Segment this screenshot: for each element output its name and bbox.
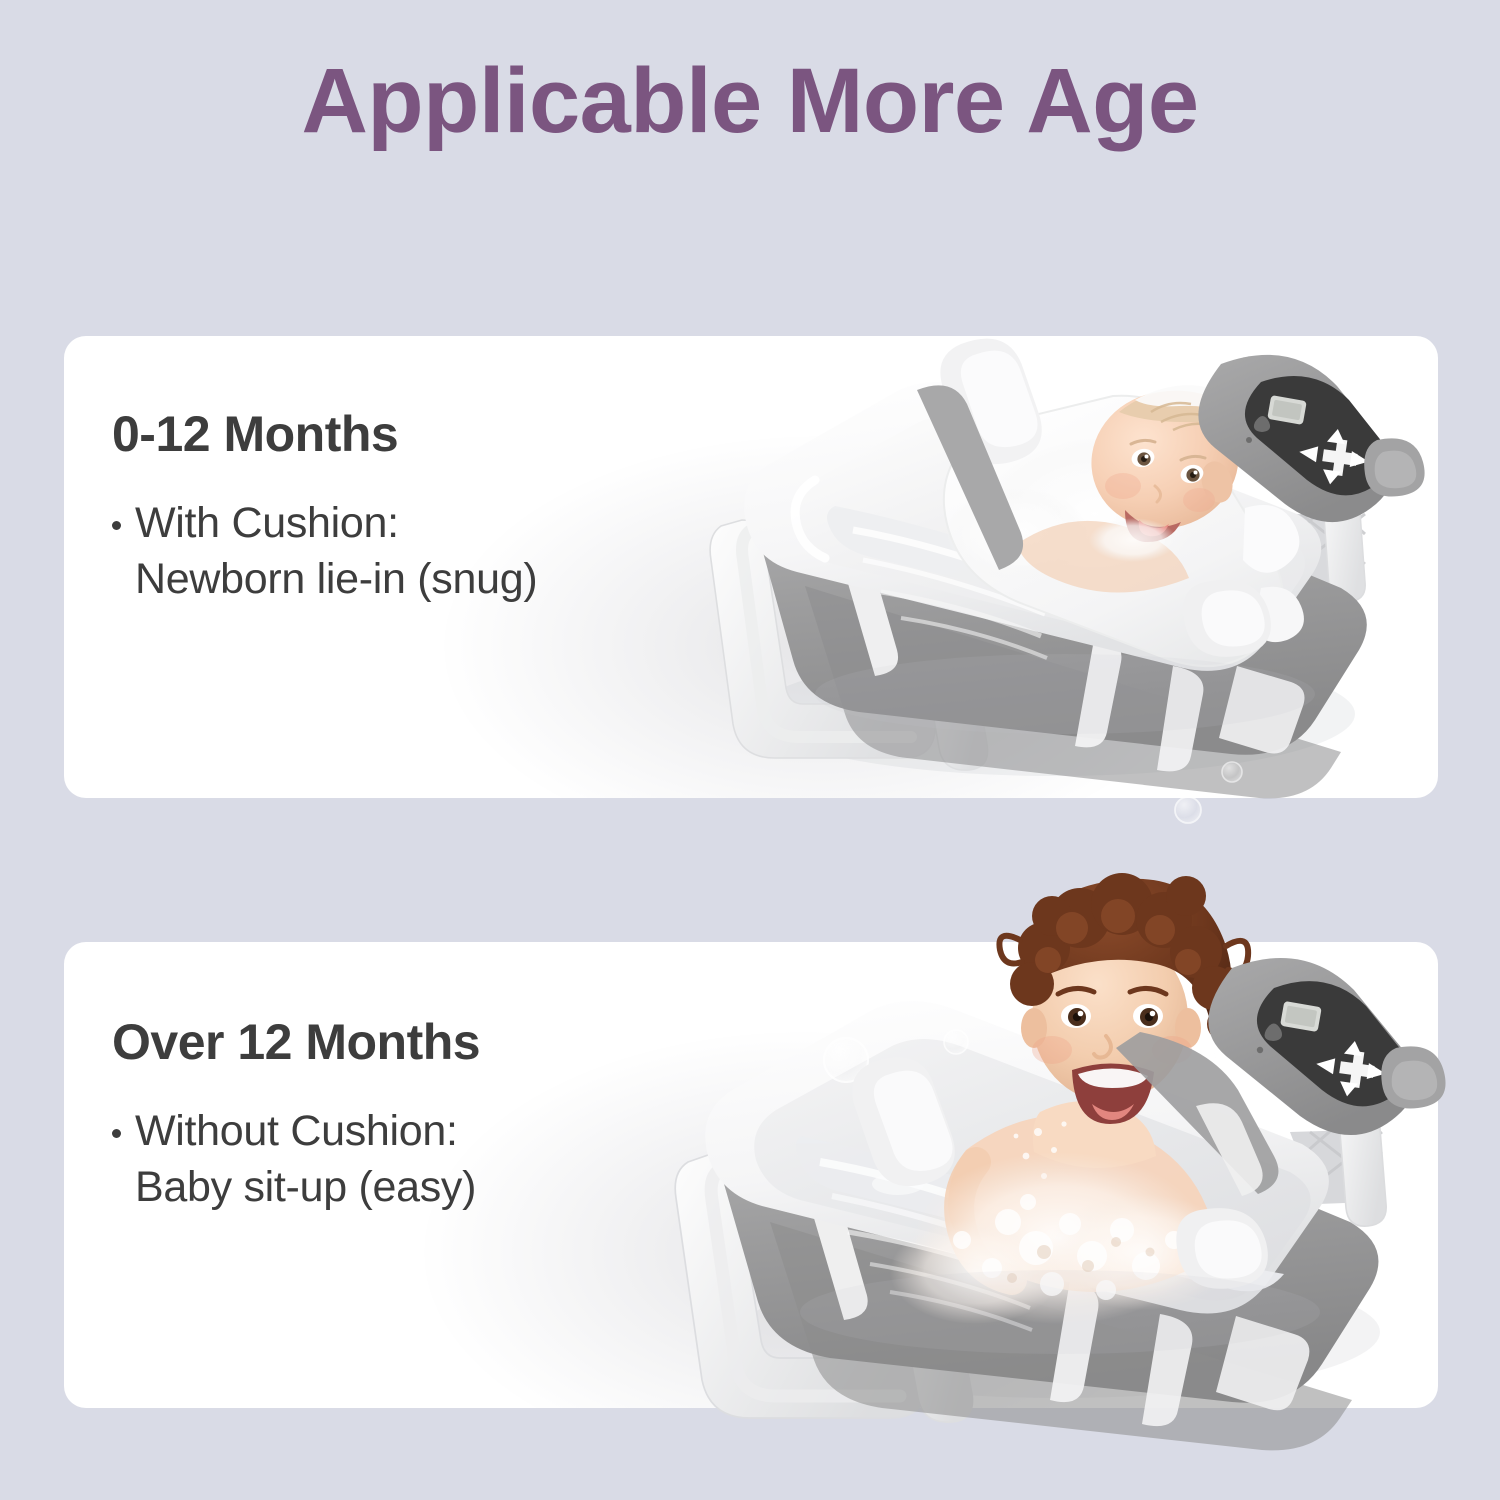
- bullet-list: Without Cushion: Baby sit-up (easy): [112, 1103, 480, 1217]
- page-title: Applicable More Age: [0, 52, 1500, 151]
- bullet-dot-icon: [112, 1129, 121, 1138]
- list-item: With Cushion: Newborn lie-in (snug): [112, 495, 537, 609]
- bullet-dot-icon: [112, 521, 121, 530]
- product-image-toddler-in-bathtub: [640, 732, 1470, 1422]
- bullet-list: With Cushion: Newborn lie-in (snug): [112, 495, 537, 609]
- product-image-newborn-in-bathtub: [665, 214, 1455, 804]
- bullet-text: With Cushion: Newborn lie-in (snug): [135, 495, 537, 609]
- card-heading: Over 12 Months: [112, 1016, 480, 1069]
- card-text-block: 0-12 Months With Cushion: Newborn lie-in…: [112, 408, 537, 608]
- list-item: Without Cushion: Baby sit-up (easy): [112, 1103, 480, 1217]
- infographic-page: Applicable More Age 0-12 Months With Cus…: [0, 0, 1500, 1500]
- card-text-block: Over 12 Months Without Cushion: Baby sit…: [112, 1016, 480, 1216]
- card-heading: 0-12 Months: [112, 408, 537, 461]
- bullet-text: Without Cushion: Baby sit-up (easy): [135, 1103, 476, 1217]
